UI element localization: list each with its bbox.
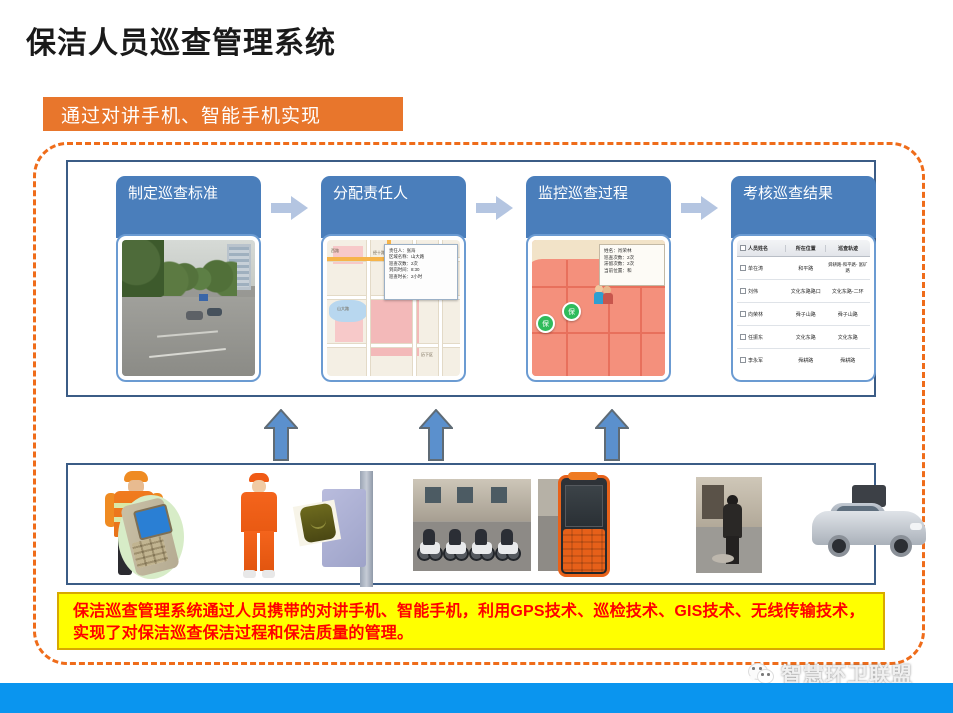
uniformed-worker-photo	[236, 473, 282, 579]
process-step-2[interactable]: 分配责任人 西路 经十路 山大路 历下区 责任人：张海	[321, 176, 466, 382]
device-photo-panel	[66, 463, 876, 585]
process-step-4-thumbnail: 人员姓名 所在位置 巡查轨迹 单在涛 和平路 舜耕路-和平路- 富矿路 刘伟 文…	[731, 234, 876, 382]
map-with-popup: 西路 经十路 山大路 历下区 责任人：张海 区域名称：山大路 巡查次数：2次 到…	[327, 240, 460, 376]
process-step-1[interactable]: 制定巡查标准	[116, 176, 261, 382]
table-row[interactable]: 李永军 舜耕路 舜耕路	[737, 349, 870, 371]
process-step-3-label: 监控巡查过程	[526, 176, 671, 238]
process-step-4-label: 考核巡查结果	[731, 176, 876, 238]
patrol-marker-icon-2: 保	[562, 302, 581, 321]
row-checkbox[interactable]	[740, 357, 746, 363]
process-step-3-thumbnail: 保 保 姓名：肖荣林 巡查次数：2次 滞留次数：2次 当前位置：和	[526, 234, 671, 382]
table-row[interactable]: 向荣林 舜子山路 舜子山路	[737, 303, 870, 326]
row-checkbox[interactable]	[740, 311, 746, 317]
process-step-2-thumbnail: 西路 经十路 山大路 历下区 责任人：张海 区域名称：山大路 巡查次数：2次 到…	[321, 234, 466, 382]
up-arrow-icon-3	[595, 409, 629, 461]
select-all-checkbox[interactable]	[740, 245, 746, 251]
worker-avatar-icon	[595, 285, 613, 305]
process-step-1-thumbnail	[116, 234, 261, 382]
process-step-4[interactable]: 考核巡查结果 人员姓名 所在位置 巡查轨迹 单在涛 和平路 舜耕路-和平路- 富…	[731, 176, 876, 382]
gis-info-popup: 姓名：肖荣林 巡查次数：2次 滞留次数：2次 当前位置：和	[599, 244, 665, 286]
process-step-3[interactable]: 监控巡查过程 保 保 姓名：肖荣林 巡查次数：2次 滞留次数	[526, 176, 671, 382]
gis-heatmap: 保 保 姓名：肖荣林 巡查次数：2次 滞留次数：2次 当前位置：和	[532, 240, 665, 376]
up-arrow-icon-1	[264, 409, 298, 461]
feature-phone-photo	[126, 499, 178, 575]
summary-box: 保洁巡查管理系统通过人员携带的对讲手机、智能手机，利用GPS技术、巡检技术、GI…	[57, 592, 885, 650]
street-photo	[122, 240, 255, 376]
rugged-handheld-terminal-photo	[558, 475, 610, 577]
table-row[interactable]: 刘伟 文化东路路口 文化东路-二环	[737, 280, 870, 303]
right-arrow-icon-1	[271, 195, 309, 221]
row-checkbox[interactable]	[740, 334, 746, 340]
row-checkbox[interactable]	[740, 265, 746, 271]
right-arrow-icon-3	[681, 195, 719, 221]
summary-text: 保洁巡查管理系统通过人员携带的对讲手机、智能手机，利用GPS技术、巡检技术、GI…	[73, 601, 871, 645]
rfid-tag-on-pole-photo	[296, 483, 388, 575]
result-data-table: 人员姓名 所在位置 巡查轨迹 单在涛 和平路 舜耕路-和平路- 富矿路 刘伟 文…	[737, 240, 870, 376]
patrol-marker-icon-1: 保	[536, 314, 555, 333]
up-arrow-icon-2	[419, 409, 453, 461]
inspector-on-street-photo	[696, 477, 762, 573]
map-info-popup: 责任人：张海 区域名称：山大路 巡查次数：2次 到岗时间：8:30 巡查时长：2…	[384, 244, 458, 300]
process-step-2-label: 分配责任人	[321, 176, 466, 238]
row-checkbox[interactable]	[740, 288, 746, 294]
page-title: 保洁人员巡查管理系统	[26, 18, 336, 62]
section-banner: 通过对讲手机、智能手机实现	[43, 97, 403, 131]
process-step-1-label: 制定巡查标准	[116, 176, 261, 238]
table-row[interactable]: 任振东 文化东路 文化东路	[737, 326, 870, 349]
wechat-icon	[748, 663, 774, 685]
table-row[interactable]: 单在涛 和平路 舜耕路-和平路- 富矿路	[737, 257, 870, 280]
patrol-motorcycle-fleet-photo	[413, 479, 531, 571]
right-arrow-icon-2	[476, 195, 514, 221]
section-banner-label: 通过对讲手机、智能手机实现	[61, 101, 321, 128]
process-panel: 制定巡查标准 分配责任人	[66, 160, 876, 397]
inspection-vehicle-photo	[810, 485, 928, 567]
table-header-row: 人员姓名 所在位置 巡查轨迹	[737, 240, 870, 257]
footer-bar	[0, 683, 953, 713]
